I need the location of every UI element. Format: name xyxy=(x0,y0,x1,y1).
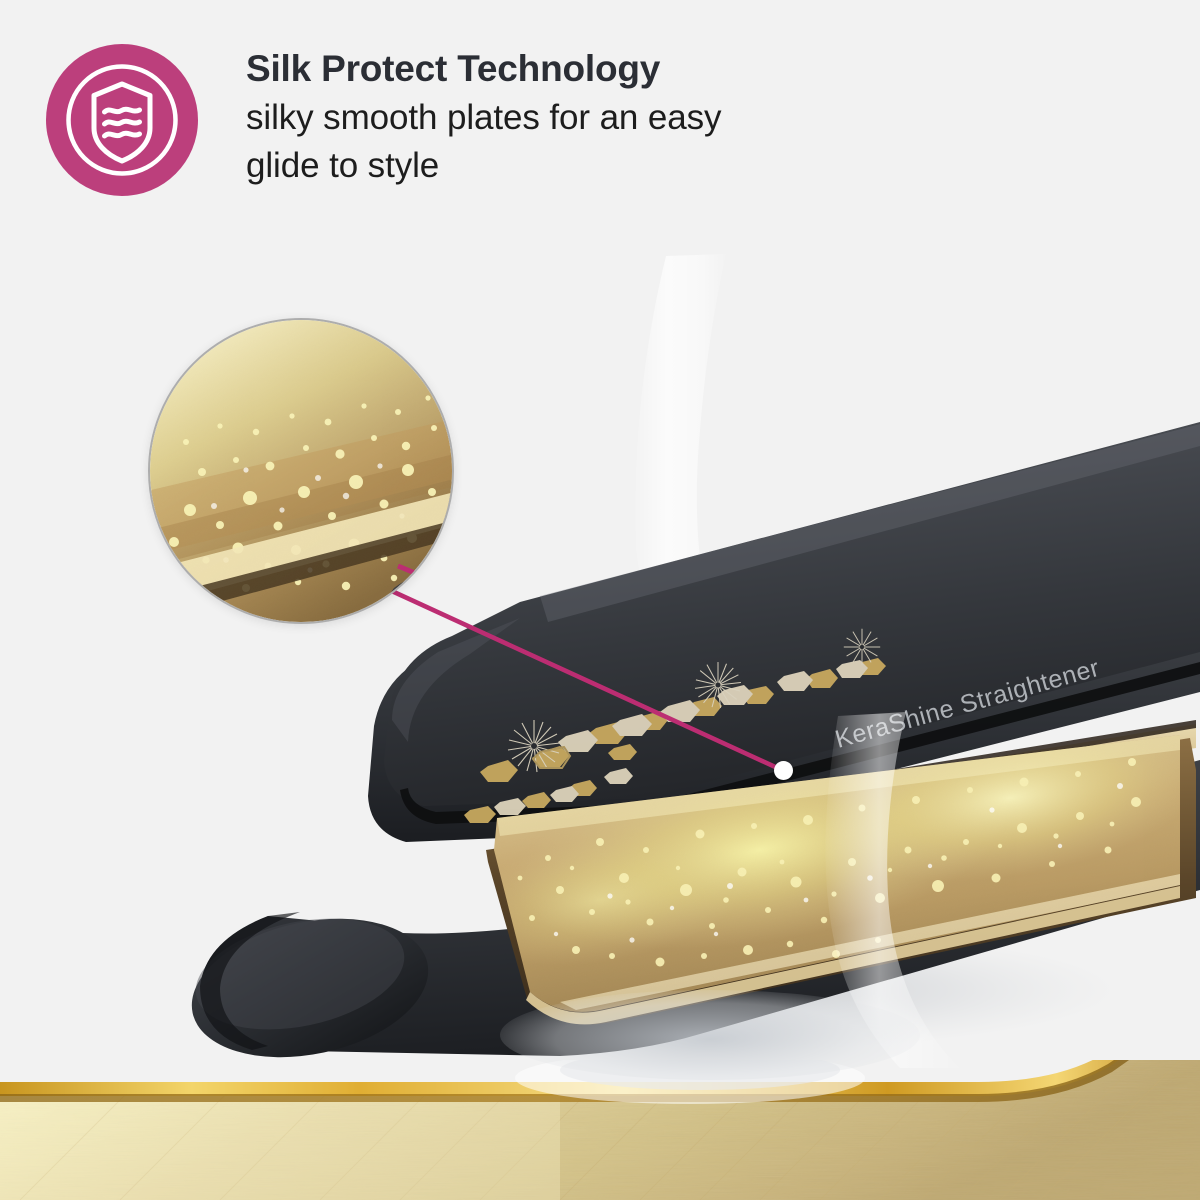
feature-title: Silk Protect Technology xyxy=(246,44,1026,94)
callout-pointer-dot xyxy=(774,761,793,780)
magnifier-content xyxy=(150,320,452,622)
silk-protect-badge xyxy=(46,44,198,196)
product-scene: KeraShine Straightener xyxy=(0,250,1200,1070)
feature-subtitle-line-1: silky smooth plates for an easy xyxy=(246,94,1026,142)
shield-waves-icon xyxy=(46,44,198,196)
product-feature-card: Silk Protect Technology silky smooth pla… xyxy=(0,0,1200,1200)
gold-band-graphic xyxy=(0,1060,1200,1200)
device-reflection xyxy=(500,990,920,1080)
feature-header: Silk Protect Technology silky smooth pla… xyxy=(0,0,1200,260)
feature-subtitle-line-2: glide to style xyxy=(246,142,1026,190)
feature-text-block: Silk Protect Technology silky smooth pla… xyxy=(246,44,1026,190)
gold-footer-band xyxy=(0,1060,1200,1200)
plate-closeup-magnifier xyxy=(148,318,454,624)
